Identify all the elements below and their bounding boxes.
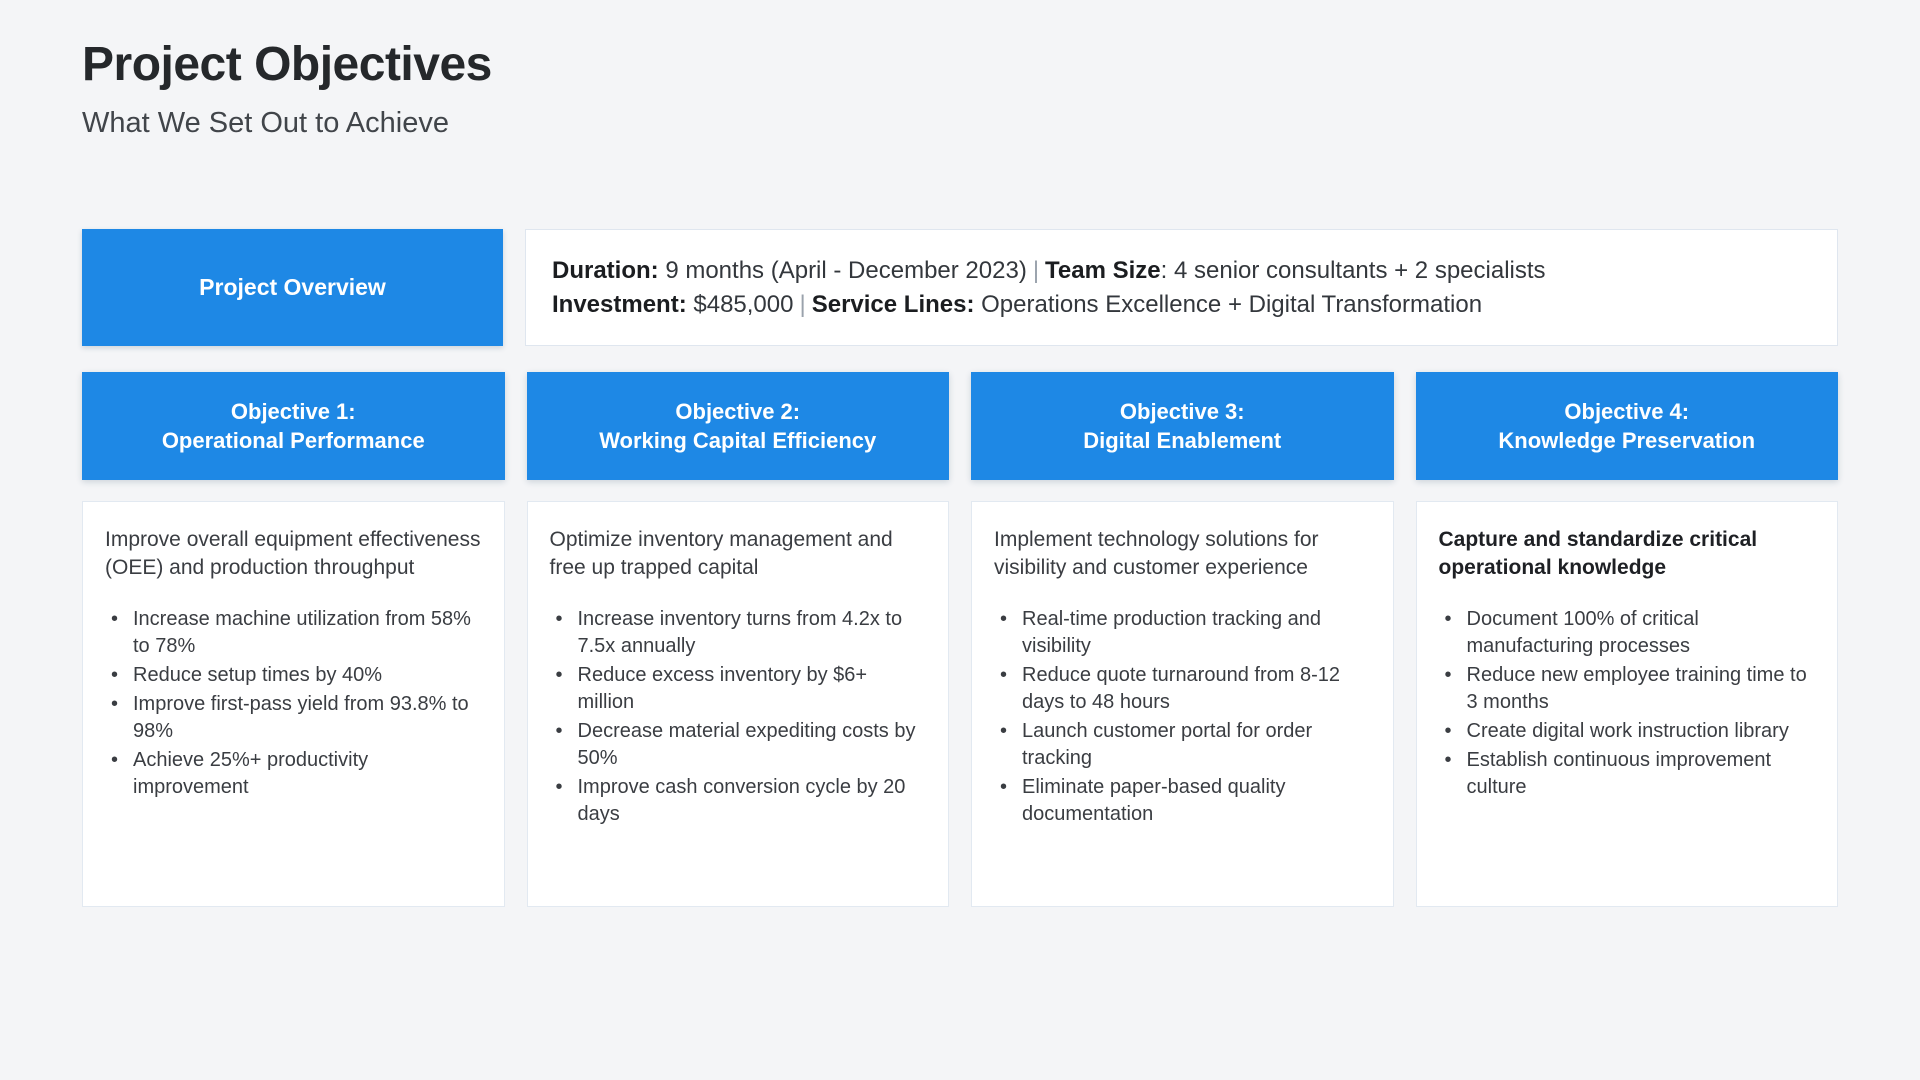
objective-column-4: Objective 4: Knowledge Preservation Capt…: [1416, 372, 1839, 907]
list-item: Reduce excess inventory by $6+ million: [576, 662, 927, 716]
investment-label: Investment:: [552, 291, 687, 318]
objective-column-2: Objective 2: Working Capital Efficiency …: [527, 372, 950, 907]
objective-1-intro: Improve overall equipment effectiveness …: [105, 526, 482, 582]
objective-1-header-line2: Operational Performance: [162, 426, 425, 455]
overview-separator-1: |: [1027, 257, 1045, 284]
list-item: Reduce quote turnaround from 8-12 days t…: [1020, 662, 1371, 716]
list-item: Improve cash conversion cycle by 20 days: [576, 774, 927, 828]
overview-separator-2: |: [793, 291, 811, 318]
duration-value-text: 9 months (April - December 2023): [665, 257, 1026, 284]
list-item: Increase machine utilization from 58% to…: [131, 606, 482, 660]
objective-3-header-line1: Objective 3:: [1120, 397, 1245, 426]
list-item: Eliminate paper-based quality documentat…: [1020, 774, 1371, 828]
list-item: Decrease material expediting costs by 50…: [576, 718, 927, 772]
page-subtitle: What We Set Out to Achieve: [82, 106, 1782, 141]
team-size-value: : 4 senior consultants + 2 specialists: [1161, 257, 1546, 284]
list-item: Reduce new employee training time to 3 m…: [1465, 662, 1816, 716]
objective-2-bullets: Increase inventory turns from 4.2x to 7.…: [550, 606, 927, 828]
objective-1-bullets: Increase machine utilization from 58% to…: [105, 606, 482, 801]
objective-1-header-line1: Objective 1:: [231, 397, 356, 426]
list-item: Increase inventory turns from 4.2x to 7.…: [576, 606, 927, 660]
objective-2-body: Optimize inventory management and free u…: [527, 501, 950, 907]
page-title: Project Objectives: [82, 38, 1782, 92]
list-item: Launch customer portal for order trackin…: [1020, 718, 1371, 772]
objective-2-header-line1: Objective 2:: [675, 397, 800, 426]
project-overview-details: Duration: 9 months (April - December 202…: [525, 229, 1838, 346]
list-item: Document 100% of critical manufacturing …: [1465, 606, 1816, 660]
objective-4-header: Objective 4: Knowledge Preservation: [1416, 372, 1839, 480]
objective-1-header: Objective 1: Operational Performance: [82, 372, 505, 480]
objective-3-intro: Implement technology solutions for visib…: [994, 526, 1371, 582]
objective-column-1: Objective 1: Operational Performance Imp…: [82, 372, 505, 907]
slide-header: Project Objectives What We Set Out to Ac…: [82, 38, 1782, 141]
objective-2-header-line2: Working Capital Efficiency: [599, 426, 876, 455]
objective-2-intro: Optimize inventory management and free u…: [550, 526, 927, 582]
investment-value: $485,000: [693, 291, 793, 318]
objective-4-bullets: Document 100% of critical manufacturing …: [1439, 606, 1816, 801]
objective-3-header: Objective 3: Digital Enablement: [971, 372, 1394, 480]
objectives-columns: Objective 1: Operational Performance Imp…: [82, 372, 1838, 907]
service-lines-label: Service Lines:: [812, 291, 975, 318]
objective-3-bullets: Real-time production tracking and visibi…: [994, 606, 1371, 828]
objective-1-body: Improve overall equipment effectiveness …: [82, 501, 505, 907]
list-item: Create digital work instruction library: [1465, 718, 1816, 745]
list-item: Reduce setup times by 40%: [131, 662, 482, 689]
objective-4-body: Capture and standardize critical operati…: [1416, 501, 1839, 907]
project-overview-row: Project Overview Duration: 9 months (Apr…: [82, 229, 1838, 346]
overview-line-1: Duration: 9 months (April - December 202…: [552, 254, 1811, 287]
service-lines-value: Operations Excellence + Digital Transfor…: [981, 291, 1482, 318]
objective-2-header: Objective 2: Working Capital Efficiency: [527, 372, 950, 480]
list-item: Real-time production tracking and visibi…: [1020, 606, 1371, 660]
objective-3-body: Implement technology solutions for visib…: [971, 501, 1394, 907]
list-item: Achieve 25%+ productivity improvement: [131, 747, 482, 801]
list-item: Establish continuous improvement culture: [1465, 747, 1816, 801]
objective-4-header-line1: Objective 4:: [1564, 397, 1689, 426]
objective-4-intro: Capture and standardize critical operati…: [1439, 526, 1816, 582]
list-item: Improve first-pass yield from 93.8% to 9…: [131, 691, 482, 745]
objective-column-3: Objective 3: Digital Enablement Implemen…: [971, 372, 1394, 907]
duration-label: Duration:: [552, 257, 659, 284]
project-overview-label: Project Overview: [82, 229, 503, 346]
objective-3-header-line2: Digital Enablement: [1083, 426, 1281, 455]
slide-root: Project Objectives What We Set Out to Ac…: [0, 0, 1920, 1080]
overview-line-2: Investment: $485,000|Service Lines: Oper…: [552, 288, 1811, 321]
team-size-label: Team Size: [1045, 257, 1161, 284]
objective-4-header-line2: Knowledge Preservation: [1498, 426, 1755, 455]
